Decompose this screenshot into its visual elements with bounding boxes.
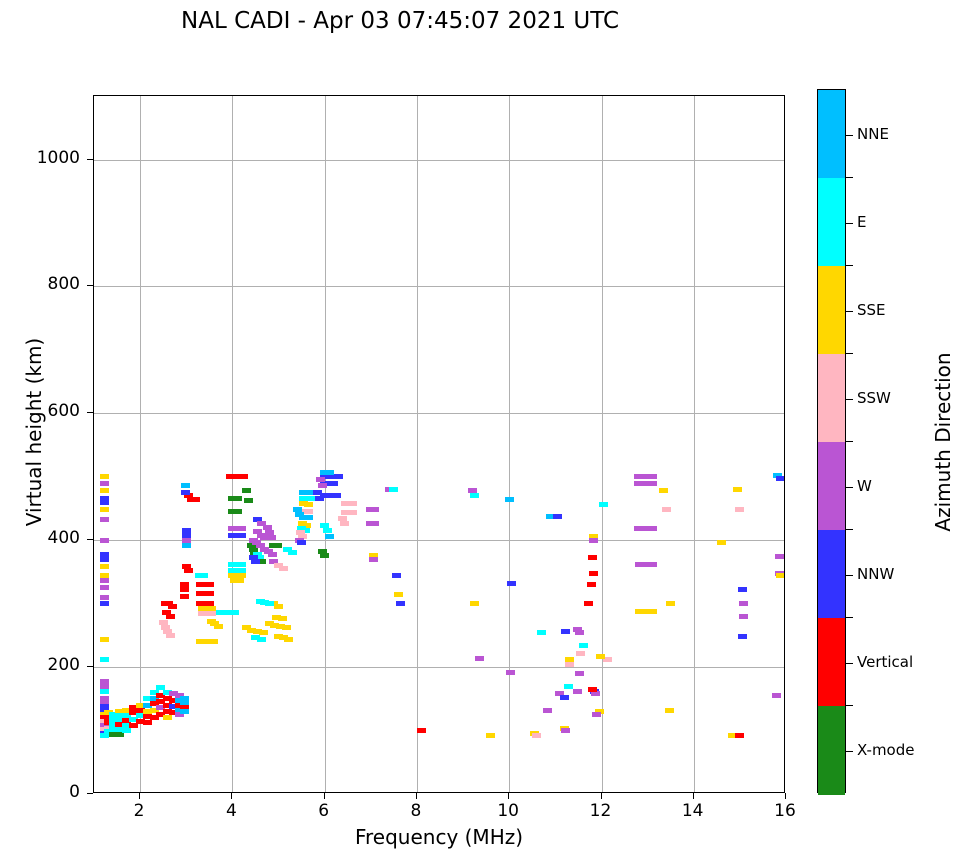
echo-point bbox=[553, 514, 562, 519]
echo-point bbox=[599, 502, 608, 507]
echo-point bbox=[199, 573, 208, 578]
x-tick-label: 8 bbox=[386, 801, 446, 821]
echo-point bbox=[100, 637, 109, 642]
echo-point bbox=[584, 601, 593, 606]
y-tick bbox=[87, 666, 93, 667]
echo-point bbox=[297, 540, 306, 545]
x-tick-label: 6 bbox=[294, 801, 354, 821]
echo-point bbox=[279, 566, 288, 571]
colorbar-tick bbox=[846, 487, 853, 488]
colorbar-label-sse: SSE bbox=[857, 301, 886, 319]
echo-point bbox=[334, 474, 343, 479]
echo-point bbox=[180, 587, 189, 592]
echo-point bbox=[506, 670, 515, 675]
x-tick-label: 12 bbox=[571, 801, 631, 821]
colorbar-tick bbox=[846, 399, 853, 400]
echo-point bbox=[648, 526, 657, 531]
echo-point bbox=[739, 601, 748, 606]
echo-point bbox=[304, 509, 313, 514]
echo-point bbox=[180, 709, 189, 714]
echo-point bbox=[313, 490, 322, 495]
echo-point bbox=[304, 502, 313, 507]
echo-point bbox=[205, 591, 214, 596]
echo-point bbox=[738, 634, 747, 639]
echo-point bbox=[320, 553, 329, 558]
echo-point bbox=[505, 497, 514, 502]
y-tick bbox=[87, 285, 93, 286]
echo-point bbox=[100, 538, 109, 543]
echo-point bbox=[592, 712, 601, 717]
echo-point bbox=[392, 573, 401, 578]
colorbar-tick bbox=[846, 135, 853, 136]
echo-point bbox=[181, 490, 190, 495]
colorbar-segment-e bbox=[818, 178, 845, 267]
echo-point bbox=[191, 497, 200, 502]
x-tick bbox=[139, 793, 140, 799]
colorbar-tick bbox=[846, 575, 853, 576]
y-tick bbox=[87, 159, 93, 160]
echo-point bbox=[251, 559, 260, 564]
echo-point bbox=[257, 637, 266, 642]
echo-point bbox=[100, 657, 109, 662]
echo-point bbox=[561, 728, 570, 733]
x-tick-label: 2 bbox=[109, 801, 169, 821]
y-tick bbox=[87, 793, 93, 794]
echo-point bbox=[560, 695, 569, 700]
echo-point bbox=[166, 614, 175, 619]
echo-point bbox=[475, 656, 484, 661]
echo-point bbox=[323, 528, 332, 533]
colorbar-boundary-tick bbox=[846, 529, 853, 530]
colorbar-label-nne: NNE bbox=[857, 125, 889, 143]
colorbar-label-ssw: SSW bbox=[857, 389, 891, 407]
echo-point bbox=[587, 582, 596, 587]
echo-point bbox=[237, 533, 246, 538]
colorbar-segment-nnw bbox=[818, 530, 845, 619]
echo-point bbox=[143, 720, 152, 725]
echo-point bbox=[122, 728, 131, 733]
echo-point bbox=[589, 571, 598, 576]
y-axis-label: Virtual height (km) bbox=[22, 272, 46, 592]
echo-point bbox=[180, 594, 189, 599]
echo-point bbox=[257, 521, 266, 526]
colorbar-label-w: W bbox=[857, 477, 872, 495]
colorbar-label-nnw: NNW bbox=[857, 565, 894, 583]
plot-area bbox=[93, 95, 785, 793]
colorbar-label-e: E bbox=[857, 213, 866, 231]
echo-point bbox=[284, 637, 293, 642]
echo-point bbox=[470, 601, 479, 606]
echo-point bbox=[576, 651, 585, 656]
echo-point bbox=[396, 601, 405, 606]
colorbar-boundary-tick bbox=[846, 353, 853, 354]
echo-point bbox=[775, 554, 784, 559]
echo-point bbox=[329, 481, 338, 486]
echo-point bbox=[589, 538, 598, 543]
colorbar-segment-w bbox=[818, 442, 845, 531]
y-tick bbox=[87, 412, 93, 413]
echo-point bbox=[370, 507, 379, 512]
echo-point bbox=[389, 487, 398, 492]
echo-point bbox=[565, 662, 574, 667]
echo-point bbox=[648, 474, 657, 479]
echo-point bbox=[340, 521, 349, 526]
echo-point bbox=[214, 624, 223, 629]
echo-point bbox=[235, 578, 244, 583]
echo-point bbox=[772, 693, 781, 698]
echo-point bbox=[588, 687, 597, 692]
colorbar-label-vertical: Vertical bbox=[857, 653, 913, 671]
echo-point bbox=[100, 500, 109, 505]
echo-point bbox=[735, 733, 744, 738]
page-title: NAL CADI - Apr 03 07:45:07 2021 UTC bbox=[0, 8, 800, 34]
x-tick-label: 16 bbox=[755, 801, 815, 821]
x-tick bbox=[601, 793, 602, 799]
colorbar-tick bbox=[846, 751, 853, 752]
echo-point bbox=[348, 510, 357, 515]
echo-point bbox=[288, 550, 297, 555]
echo-point bbox=[242, 488, 251, 493]
echo-point bbox=[588, 555, 597, 560]
echo-point bbox=[100, 578, 109, 583]
echo-point bbox=[163, 715, 172, 720]
echo-point bbox=[100, 517, 109, 522]
echo-point bbox=[332, 493, 341, 498]
echo-point bbox=[304, 490, 313, 495]
echo-point bbox=[278, 616, 287, 621]
x-tick bbox=[324, 793, 325, 799]
echo-point bbox=[717, 540, 726, 545]
echo-point bbox=[282, 625, 291, 630]
y-tick-label: 1000 bbox=[8, 148, 80, 168]
echo-point bbox=[325, 470, 334, 475]
echo-point bbox=[648, 609, 657, 614]
echo-point bbox=[470, 493, 479, 498]
echo-point bbox=[268, 552, 277, 557]
echo-point bbox=[100, 601, 109, 606]
echo-point bbox=[244, 498, 253, 503]
echo-point bbox=[181, 483, 190, 488]
echo-point bbox=[274, 604, 283, 609]
colorbar-segment-sse bbox=[818, 266, 845, 355]
echo-point bbox=[537, 630, 546, 635]
echo-point bbox=[318, 483, 327, 488]
echo-point bbox=[596, 654, 605, 659]
x-tick-label: 10 bbox=[478, 801, 538, 821]
echo-point bbox=[735, 507, 744, 512]
x-axis-label: Frequency (MHz) bbox=[93, 825, 785, 849]
colorbar-segment-vertical bbox=[818, 618, 845, 707]
echo-point bbox=[648, 562, 657, 567]
echo-point bbox=[259, 630, 268, 635]
echo-point bbox=[237, 562, 246, 567]
echo-point bbox=[295, 512, 304, 517]
x-tick bbox=[416, 793, 417, 799]
x-tick bbox=[231, 793, 232, 799]
echo-point bbox=[230, 610, 239, 615]
x-tick bbox=[785, 793, 786, 799]
echo-point bbox=[100, 564, 109, 569]
y-tick-label: 0 bbox=[8, 782, 80, 802]
echo-point bbox=[166, 633, 175, 638]
echo-point bbox=[100, 474, 109, 479]
echo-point bbox=[665, 708, 674, 713]
echo-point bbox=[348, 501, 357, 506]
echo-point bbox=[100, 557, 109, 562]
echo-point bbox=[573, 689, 582, 694]
echo-point bbox=[100, 689, 109, 694]
colorbar-boundary-tick bbox=[846, 617, 853, 618]
echo-point bbox=[316, 477, 325, 482]
echo-point bbox=[100, 585, 109, 590]
echo-point bbox=[100, 481, 109, 486]
echo-point bbox=[304, 515, 313, 520]
colorbar bbox=[817, 89, 846, 793]
echo-point bbox=[739, 614, 748, 619]
echo-point bbox=[659, 488, 668, 493]
echo-point bbox=[776, 573, 784, 578]
echo-point bbox=[168, 604, 177, 609]
echo-point bbox=[237, 526, 246, 531]
echo-point bbox=[209, 639, 218, 644]
colorbar-segment-ssw bbox=[818, 354, 845, 443]
colorbar-segment-nne bbox=[818, 90, 845, 179]
colorbar-segment-x-mode bbox=[818, 706, 845, 795]
echo-point bbox=[100, 488, 109, 493]
echo-point bbox=[239, 474, 248, 479]
echo-point bbox=[543, 708, 552, 713]
echo-point bbox=[184, 568, 193, 573]
echo-point bbox=[579, 643, 588, 648]
echo-point bbox=[369, 557, 378, 562]
echo-point bbox=[273, 543, 282, 548]
echo-point bbox=[532, 733, 541, 738]
colorbar-boundary-tick bbox=[846, 705, 853, 706]
echo-point bbox=[776, 476, 784, 481]
echo-point bbox=[207, 611, 216, 616]
x-tick bbox=[508, 793, 509, 799]
echo-point bbox=[417, 728, 426, 733]
echo-point bbox=[233, 496, 242, 501]
echo-point bbox=[182, 543, 191, 548]
echo-point bbox=[666, 601, 675, 606]
ionogram-figure: NAL CADI - Apr 03 07:45:07 2021 UTC 2468… bbox=[0, 0, 958, 857]
echo-point bbox=[486, 733, 495, 738]
echo-point bbox=[370, 521, 379, 526]
echo-point bbox=[100, 595, 109, 600]
colorbar-title: Azimuth Direction bbox=[931, 292, 955, 592]
colorbar-boundary-tick bbox=[846, 265, 853, 266]
data-layer bbox=[94, 96, 784, 792]
echo-point bbox=[575, 671, 584, 676]
echo-point bbox=[561, 629, 570, 634]
echo-point bbox=[738, 587, 747, 592]
echo-point bbox=[575, 630, 584, 635]
x-tick-label: 14 bbox=[663, 801, 723, 821]
colorbar-boundary-tick bbox=[846, 177, 853, 178]
echo-point bbox=[648, 481, 657, 486]
colorbar-label-x-mode: X-mode bbox=[857, 741, 914, 759]
x-tick bbox=[693, 793, 694, 799]
echo-point bbox=[205, 582, 214, 587]
echo-point bbox=[662, 507, 671, 512]
echo-point bbox=[100, 507, 109, 512]
echo-point bbox=[507, 581, 516, 586]
echo-point bbox=[325, 534, 334, 539]
x-tick-label: 4 bbox=[201, 801, 261, 821]
echo-point bbox=[233, 509, 242, 514]
echo-point bbox=[267, 535, 276, 540]
y-tick-label: 200 bbox=[8, 655, 80, 675]
colorbar-boundary-tick bbox=[846, 441, 853, 442]
echo-point bbox=[265, 601, 274, 606]
echo-point bbox=[394, 592, 403, 597]
colorbar-tick bbox=[846, 663, 853, 664]
echo-point bbox=[733, 487, 742, 492]
echo-point bbox=[564, 684, 573, 689]
colorbar-tick bbox=[846, 223, 853, 224]
y-tick bbox=[87, 539, 93, 540]
colorbar-tick bbox=[846, 311, 853, 312]
echo-point bbox=[315, 496, 324, 501]
